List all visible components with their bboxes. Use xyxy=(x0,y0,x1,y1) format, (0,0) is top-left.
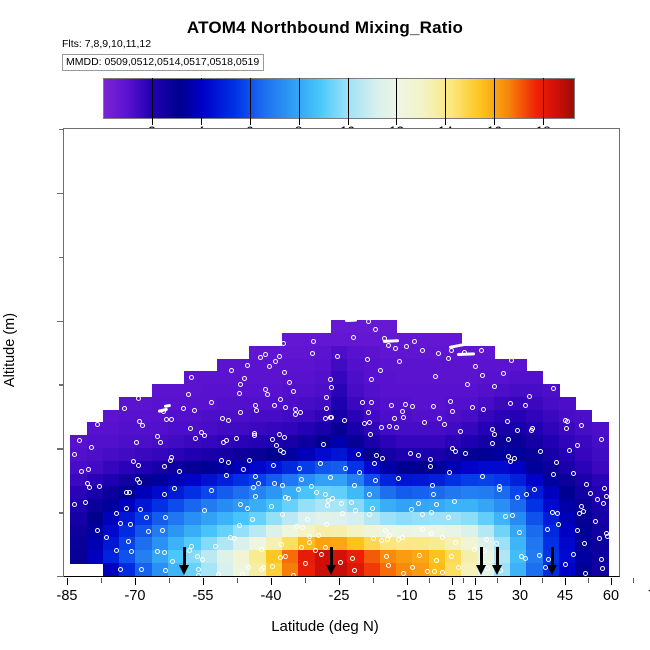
heatmap-cell xyxy=(543,422,560,435)
sample-marker xyxy=(162,492,167,497)
sample-marker xyxy=(436,351,441,356)
sample-marker xyxy=(305,517,310,522)
heatmap-cell xyxy=(168,512,185,525)
flight-track-dash xyxy=(457,352,475,356)
x-axis-tick-label: -55 xyxy=(193,588,214,604)
sample-marker xyxy=(95,528,100,533)
sample-marker xyxy=(604,531,609,536)
heatmap-cell xyxy=(70,486,87,499)
sample-marker xyxy=(256,481,261,486)
sample-marker xyxy=(246,565,251,570)
heatmap-cell xyxy=(70,512,87,525)
sample-marker xyxy=(352,483,357,488)
heatmap-cell xyxy=(217,550,234,563)
heatmap-cell xyxy=(380,320,397,333)
heatmap-cell xyxy=(461,512,478,525)
heatmap-cell xyxy=(559,499,576,512)
sample-marker xyxy=(532,487,537,492)
x-axis-minor-tick xyxy=(633,578,634,583)
x-axis-tick-label: 15 xyxy=(467,588,483,604)
y-axis-tick xyxy=(57,576,64,577)
heatmap-cell xyxy=(315,448,332,461)
sample-marker xyxy=(291,573,296,576)
heatmap-cell xyxy=(217,422,234,435)
x-axis-tick-labels: -85-70-55-40-25-1051530456075 xyxy=(64,578,621,604)
heatmap-cell xyxy=(298,371,315,384)
heatmap-cell xyxy=(152,499,169,512)
heatmap-cell xyxy=(396,422,413,435)
y-axis-title: Altitude (m) xyxy=(2,313,18,387)
heatmap-cell xyxy=(364,550,381,563)
heatmap-cell xyxy=(526,371,543,384)
heatmap-cell xyxy=(592,422,609,435)
heatmap-cell xyxy=(347,512,364,525)
sample-marker xyxy=(278,555,283,560)
heatmap-cell xyxy=(396,512,413,525)
sample-marker xyxy=(600,566,605,571)
x-axis-title: Latitude (deg N) xyxy=(0,618,650,635)
sample-marker xyxy=(128,522,133,527)
heatmap-cell xyxy=(168,422,185,435)
sample-marker xyxy=(386,563,391,568)
heatmap-cell xyxy=(249,359,266,372)
sample-marker xyxy=(517,530,522,535)
heatmap-cell xyxy=(380,512,397,525)
heatmap-cell xyxy=(119,525,136,538)
heatmap-cell xyxy=(559,537,576,550)
sample-marker xyxy=(209,488,214,493)
heatmap-cell xyxy=(347,359,364,372)
heatmap-cell xyxy=(87,550,104,563)
sample-marker xyxy=(280,512,285,517)
sample-marker xyxy=(432,569,437,574)
heatmap-cell xyxy=(298,397,315,410)
arrow-shaft xyxy=(496,547,499,567)
sample-marker xyxy=(492,432,497,437)
heatmap-cell xyxy=(526,410,543,423)
heatmap-cell xyxy=(168,525,185,538)
heatmap-cell xyxy=(478,448,495,461)
heatmap-cell xyxy=(119,410,136,423)
arrow-shaft xyxy=(183,547,186,567)
sample-marker xyxy=(144,515,149,520)
heatmap-cell xyxy=(135,563,152,576)
heatmap-cell xyxy=(168,384,185,397)
sample-marker xyxy=(599,557,604,562)
sample-marker xyxy=(326,498,331,503)
x-axis-tick-label: 60 xyxy=(603,588,619,604)
heatmap-cell xyxy=(201,461,218,474)
sample-marker xyxy=(362,421,367,426)
heatmap-cell xyxy=(87,512,104,525)
colorbar-separator xyxy=(250,78,251,119)
sample-marker xyxy=(420,512,425,517)
heatmap-cell xyxy=(201,512,218,525)
sample-marker xyxy=(369,400,374,405)
sample-marker xyxy=(126,539,131,544)
heatmap-cell xyxy=(135,550,152,563)
sample-marker xyxy=(452,499,457,504)
heatmap-cell xyxy=(331,435,348,448)
x-axis-tick-label: -40 xyxy=(261,588,282,604)
colorbar-separator xyxy=(543,78,544,119)
heatmap-cell xyxy=(217,371,234,384)
heatmap-cell xyxy=(152,474,169,487)
heatmap-cell xyxy=(201,474,218,487)
sample-marker xyxy=(226,418,231,423)
sample-marker xyxy=(508,459,513,464)
x-axis-tick-label: -85 xyxy=(57,588,78,604)
heatmap-cell xyxy=(119,422,136,435)
heatmap-cell xyxy=(103,461,120,474)
heatmap-cell xyxy=(184,486,201,499)
heatmap-cell xyxy=(478,499,495,512)
heatmap-cell xyxy=(87,537,104,550)
heatmap-cell xyxy=(412,359,429,372)
colorbar-separator xyxy=(348,78,349,119)
sample-marker xyxy=(335,354,340,359)
sample-marker xyxy=(250,517,255,522)
sample-marker xyxy=(449,554,454,559)
sample-marker xyxy=(599,437,604,442)
sample-marker xyxy=(139,567,144,572)
sample-marker xyxy=(127,490,132,495)
heatmap-cell xyxy=(347,435,364,448)
heatmap-cell xyxy=(266,410,283,423)
sample-marker xyxy=(232,536,237,541)
heatmap-cell xyxy=(217,499,234,512)
heatmap-cell xyxy=(559,435,576,448)
heatmap-cell xyxy=(412,461,429,474)
y-axis-tick xyxy=(57,321,64,322)
arrow-head xyxy=(179,565,189,575)
y-axis-tick xyxy=(57,193,64,194)
heatmap-cell xyxy=(282,499,299,512)
sample-marker xyxy=(458,429,463,434)
heatmap-cell xyxy=(184,448,201,461)
heatmap-cell xyxy=(396,384,413,397)
heatmap-cell xyxy=(347,537,364,550)
heatmap-cell xyxy=(184,499,201,512)
sample-marker xyxy=(192,408,197,413)
sample-marker xyxy=(579,423,584,428)
sample-marker xyxy=(254,408,259,413)
heatmap-cell xyxy=(70,550,87,563)
sample-marker xyxy=(263,387,268,392)
y-axis-minor-tick xyxy=(59,512,64,513)
sample-marker xyxy=(420,527,425,532)
heatmap-cell xyxy=(103,563,120,576)
arrow-shaft xyxy=(330,547,333,567)
sample-marker xyxy=(318,461,323,466)
heatmap-cell xyxy=(217,512,234,525)
heatmap-cell xyxy=(380,499,397,512)
heatmap-cell xyxy=(461,384,478,397)
heatmap-cell xyxy=(494,499,511,512)
heatmap-cell xyxy=(201,448,218,461)
sample-marker xyxy=(420,348,425,353)
heatmap-cell xyxy=(298,499,315,512)
sample-marker xyxy=(251,485,256,490)
sample-marker xyxy=(387,424,392,429)
sample-marker xyxy=(221,440,226,445)
sample-marker xyxy=(253,474,258,479)
heatmap-cell xyxy=(526,525,543,538)
sample-marker xyxy=(240,572,245,576)
sample-marker xyxy=(386,343,391,348)
heatmap-cell xyxy=(461,422,478,435)
heatmap-cell xyxy=(103,474,120,487)
heatmap-cell xyxy=(364,563,381,576)
heatmap-cell xyxy=(331,320,348,333)
heatmap-cell xyxy=(103,486,120,499)
sample-marker xyxy=(368,432,373,437)
sample-marker xyxy=(593,519,598,524)
colorbar-separator xyxy=(201,78,202,119)
heatmap-cell xyxy=(412,499,429,512)
heatmap-cell xyxy=(217,486,234,499)
sample-marker xyxy=(261,565,266,570)
colorbar-separator xyxy=(396,78,397,119)
colorbar-separator xyxy=(494,78,495,119)
heatmap-cell xyxy=(445,384,462,397)
sample-marker xyxy=(299,545,304,550)
sample-marker xyxy=(274,443,279,448)
heatmap-cell xyxy=(298,448,315,461)
sample-marker xyxy=(404,344,409,349)
sample-marker xyxy=(294,524,299,529)
heatmap-cell xyxy=(217,397,234,410)
heatmap-cell xyxy=(233,512,250,525)
sample-marker xyxy=(253,494,258,499)
sample-marker xyxy=(602,486,607,491)
heatmap-cell xyxy=(445,474,462,487)
y-axis-minor-tick xyxy=(59,257,64,258)
sample-marker xyxy=(181,406,186,411)
heatmap-cell xyxy=(510,499,527,512)
sample-marker xyxy=(365,357,370,362)
sample-marker xyxy=(79,469,84,474)
heatmap-cell xyxy=(249,550,266,563)
sample-marker xyxy=(409,507,414,512)
heatmap-cell xyxy=(233,422,250,435)
x-axis-tick-label: 45 xyxy=(557,588,573,604)
sample-marker xyxy=(323,545,328,550)
sample-marker xyxy=(389,403,394,408)
heatmap-cell xyxy=(575,410,592,423)
heatmap-cell xyxy=(87,448,104,461)
x-axis-tick-label: 30 xyxy=(512,588,528,604)
heatmap-cell xyxy=(461,474,478,487)
heatmap-cell xyxy=(168,499,185,512)
sample-marker xyxy=(463,451,468,456)
x-axis-tick-label: -25 xyxy=(329,588,350,604)
heatmap-cell xyxy=(412,486,429,499)
heatmap-cell xyxy=(298,422,315,435)
sample-marker xyxy=(281,341,286,346)
sample-marker xyxy=(310,351,315,356)
arrow-head xyxy=(547,565,557,575)
heatmap-cell xyxy=(526,563,543,576)
heatmap-cell xyxy=(543,397,560,410)
sample-marker xyxy=(267,364,272,369)
heatmap-cell xyxy=(592,474,609,487)
dates-annotation-box: MMDD: 0509,0512,0514,0517,0518,0519 xyxy=(62,54,264,71)
sample-marker xyxy=(393,346,398,351)
heatmap-cell xyxy=(184,512,201,525)
heatmap-cell xyxy=(266,371,283,384)
heatmap-cell xyxy=(331,537,348,550)
heatmap-cell xyxy=(201,563,218,576)
heatmap-cell xyxy=(347,525,364,538)
heatmap-cell xyxy=(412,474,429,487)
sample-marker xyxy=(506,437,511,442)
sample-marker xyxy=(89,445,94,450)
heatmap-cell xyxy=(461,499,478,512)
sample-marker xyxy=(245,363,250,368)
heatmap-cell xyxy=(315,359,332,372)
sample-marker xyxy=(555,511,560,516)
heatmap-cell xyxy=(396,461,413,474)
heatmap-cell xyxy=(526,512,543,525)
sample-marker xyxy=(136,463,141,468)
heatmap-cell xyxy=(526,435,543,448)
sample-marker xyxy=(196,573,201,576)
sample-marker xyxy=(430,483,435,488)
heatmap-cell xyxy=(103,448,120,461)
arrow-head xyxy=(326,565,336,575)
y-axis-minor-tick xyxy=(59,384,64,385)
heatmap-cell xyxy=(494,512,511,525)
heatmap-cell xyxy=(380,486,397,499)
sample-marker xyxy=(577,511,582,516)
heatmap-cell xyxy=(396,435,413,448)
x-axis-tick-label: -10 xyxy=(397,588,418,604)
sample-marker xyxy=(146,529,151,534)
sample-marker xyxy=(403,402,408,407)
heatmap-cell xyxy=(510,474,527,487)
arrow-shaft xyxy=(551,547,554,567)
heatmap-cell xyxy=(510,384,527,397)
sample-marker xyxy=(124,506,129,511)
heatmap-cell xyxy=(331,397,348,410)
sample-marker xyxy=(283,554,288,559)
heatmap-cell xyxy=(364,384,381,397)
chart-root: ATOM4 Northbound Mixing_Ratio Flts: 7,8,… xyxy=(0,0,650,650)
sample-marker xyxy=(440,535,445,540)
heatmap-cell xyxy=(70,525,87,538)
flight-track-dash xyxy=(499,348,521,353)
sample-marker xyxy=(252,433,257,438)
heatmap-cell xyxy=(543,486,560,499)
heatmap-grid xyxy=(64,129,619,576)
sample-marker xyxy=(429,531,434,536)
sample-marker xyxy=(379,538,384,543)
sample-marker xyxy=(546,557,551,562)
heatmap-cell xyxy=(412,537,429,550)
sample-marker xyxy=(114,511,119,516)
y-axis-tick xyxy=(57,448,64,449)
heatmap-cell xyxy=(135,448,152,461)
heatmap-cell xyxy=(201,410,218,423)
heatmap-cell xyxy=(592,461,609,474)
sample-marker xyxy=(104,535,109,540)
sample-marker xyxy=(396,476,401,481)
heatmap-cell xyxy=(543,435,560,448)
sample-marker xyxy=(259,547,264,552)
sample-marker xyxy=(519,554,524,559)
heatmap-cell xyxy=(298,435,315,448)
sample-marker xyxy=(316,533,321,538)
sample-marker xyxy=(323,492,328,497)
sample-marker xyxy=(303,561,308,566)
heatmap-cell xyxy=(412,371,429,384)
heatmap-cell xyxy=(331,333,348,346)
heatmap-cell xyxy=(298,359,315,372)
heatmap-cell xyxy=(575,461,592,474)
sample-marker xyxy=(563,562,568,567)
heatmap-cell xyxy=(526,537,543,550)
sample-marker xyxy=(367,512,372,517)
sample-marker xyxy=(510,513,515,518)
heatmap-cell xyxy=(412,435,429,448)
arrow-head xyxy=(492,565,502,575)
sample-marker xyxy=(279,542,284,547)
heatmap-cell xyxy=(429,435,446,448)
heatmap-cell xyxy=(575,550,592,563)
heatmap-cell xyxy=(559,397,576,410)
heatmap-cell xyxy=(184,461,201,474)
sample-marker xyxy=(417,553,422,558)
heatmap-cell xyxy=(331,525,348,538)
heatmap-cell xyxy=(445,525,462,538)
heatmap-cell xyxy=(249,448,266,461)
heatmap-cell xyxy=(103,422,120,435)
sample-marker xyxy=(448,399,453,404)
heatmap-cell xyxy=(575,448,592,461)
sample-marker xyxy=(277,354,282,359)
heatmap-cell xyxy=(510,371,527,384)
heatmap-cell xyxy=(543,410,560,423)
heatmap-cell xyxy=(184,525,201,538)
heatmap-cell xyxy=(380,474,397,487)
heatmap-cell xyxy=(559,486,576,499)
heatmap-cell xyxy=(559,525,576,538)
heatmap-cell xyxy=(266,525,283,538)
arrow-shaft xyxy=(480,547,483,567)
sample-marker xyxy=(503,514,508,519)
heatmap-cell xyxy=(315,333,332,346)
sample-marker xyxy=(369,377,374,382)
sample-marker xyxy=(270,564,275,569)
heatmap-cell xyxy=(315,422,332,435)
arrow-head xyxy=(476,565,486,575)
heatmap-cell xyxy=(331,422,348,435)
sample-marker xyxy=(545,527,550,532)
sample-marker xyxy=(213,544,218,549)
sample-marker xyxy=(155,549,160,554)
heatmap-cell xyxy=(347,371,364,384)
plot-area: 050001000015000 -85-70-55-40-25-10515304… xyxy=(63,128,620,577)
sample-marker xyxy=(434,558,439,563)
heatmap-cell xyxy=(364,333,381,346)
heatmap-cell xyxy=(331,448,348,461)
sample-marker xyxy=(473,364,478,369)
heatmap-cell xyxy=(347,384,364,397)
heatmap-cell xyxy=(347,320,364,333)
heatmap-cell xyxy=(510,537,527,550)
heatmap-cell xyxy=(298,384,315,397)
